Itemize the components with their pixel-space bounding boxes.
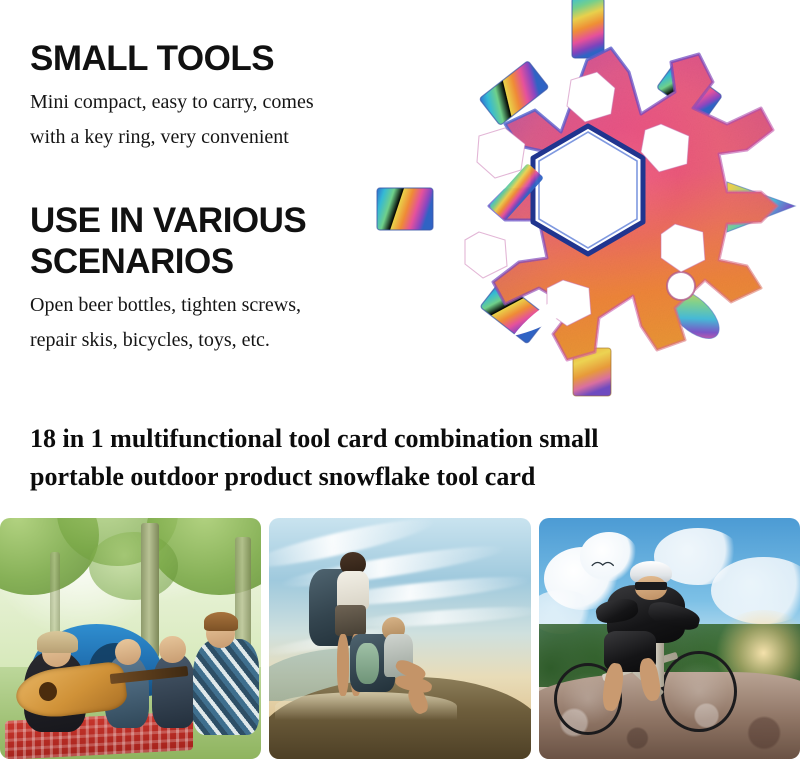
- tool-tab-left: [377, 188, 433, 230]
- sun-hat: [37, 631, 79, 653]
- feature-headline-small-tools: SMALL TOOLS: [30, 38, 314, 79]
- sunglasses: [635, 582, 666, 590]
- feature-headline-scenarios: USE IN VARIOUS SCENARIOS: [30, 200, 306, 282]
- feature-block-scenarios: USE IN VARIOUS SCENARIOS Open beer bottl…: [30, 200, 306, 358]
- person-head: [159, 636, 185, 663]
- person-hair: [204, 612, 238, 631]
- product-listing-image: SMALL TOOLS Mini compact, easy to carry,…: [0, 0, 800, 759]
- bike-wheel-front: [661, 651, 737, 733]
- bird-icon: [591, 557, 615, 571]
- person-plaid-shirt: [193, 639, 258, 735]
- lifestyle-photo-camping: [0, 518, 261, 759]
- product-title: 18 in 1 multifunctional tool card combin…: [30, 420, 730, 496]
- keyring-hole: [667, 272, 695, 300]
- hiker-shirt: [337, 571, 368, 610]
- tree-trunk: [50, 552, 60, 634]
- lifestyle-photo-mountain-biking: [539, 518, 800, 759]
- product-photo-snowflake-multitool: [375, 0, 800, 416]
- sleeping-roll: [356, 643, 380, 684]
- lifestyle-photo-hiking: [269, 518, 530, 759]
- feature-body-scenarios: Open beer bottles, tighten screws, repai…: [30, 288, 306, 358]
- feature-block-small-tools: SMALL TOOLS Mini compact, easy to carry,…: [30, 38, 314, 155]
- tree-trunk: [141, 523, 159, 658]
- person-seated: [152, 653, 196, 728]
- ridge-highlight: [275, 692, 458, 721]
- hiker-shorts: [335, 605, 366, 636]
- hiker-leg: [337, 634, 349, 697]
- cloud: [347, 603, 530, 631]
- person-head: [115, 639, 141, 666]
- feature-body-small-tools: Mini compact, easy to carry, comes with …: [30, 85, 314, 155]
- foliage: [89, 532, 178, 599]
- tool-tab-top: [572, 0, 604, 58]
- snowflake-multitool-icon: [375, 0, 800, 416]
- lifestyle-photo-strip: [0, 518, 800, 759]
